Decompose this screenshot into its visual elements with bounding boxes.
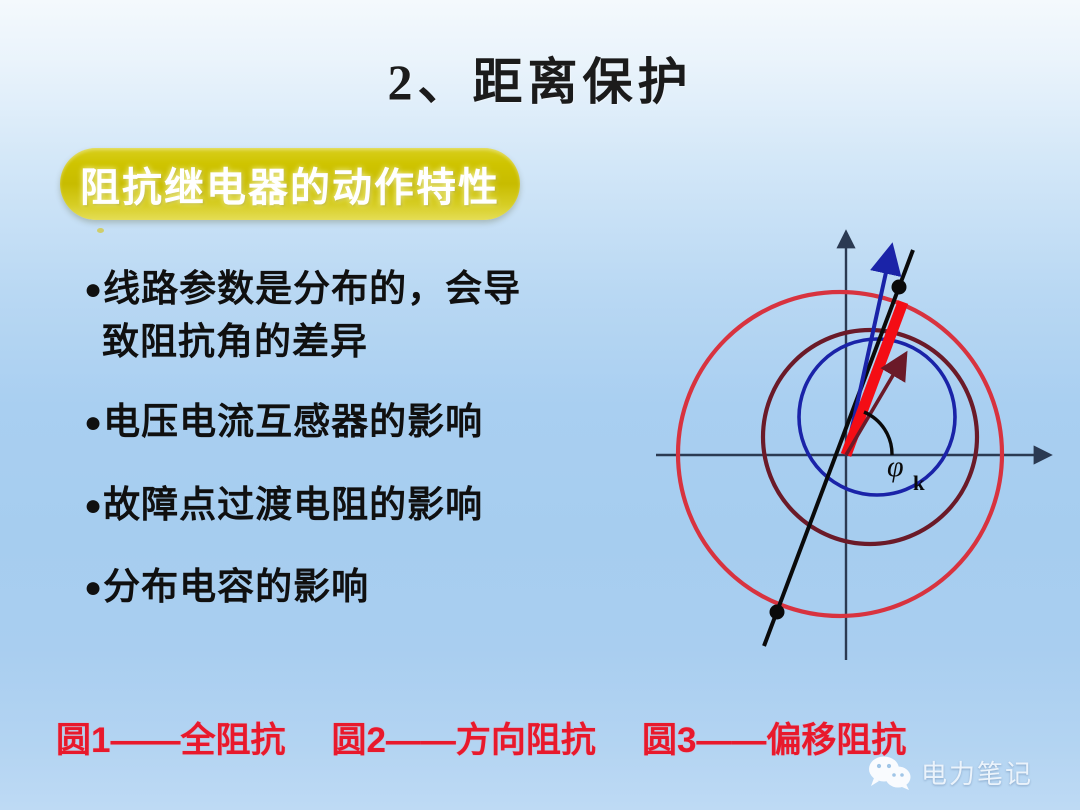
bullet-marker-icon: ● [84,489,103,522]
line-endpoint-dot-lower [770,605,785,620]
section-banner-label: 阻抗继电器的动作特性 [80,155,500,213]
bullet-list: ●线路参数是分布的，会导 致阻抗角的差异 ●电压电流互感器的影响 ●故障点过渡电… [84,264,684,635]
slide-canvas: 2、距离保护 阻抗继电器的动作特性 ●线路参数是分布的，会导 致阻抗角的差异 ●… [0,0,1080,810]
bullet-text-line1: 分布电容的影响 [103,567,369,608]
list-item: ●线路参数是分布的，会导 致阻抗角的差异 [84,264,684,369]
banner-accent-dot [97,228,104,233]
impedance-circles-diagram: φ k [640,222,1060,682]
legend-item-circle2: 圆2——方向阻抗 [331,712,595,763]
angle-subscript-label: k [913,471,925,495]
list-item: ●故障点过渡电阻的影响 [84,480,684,533]
angle-label: φ [887,450,904,483]
bullet-text-line1: 故障点过渡电阻的影响 [103,485,483,526]
bullet-marker-icon: ● [84,406,103,439]
section-banner: 阻抗继电器的动作特性 [60,148,520,220]
line-endpoint-dot-upper [892,280,907,295]
list-item: ●电压电流互感器的影响 [84,397,684,450]
list-item: ●分布电容的影响 [84,562,684,615]
bullet-text-line1: 电压电流互感器的影响 [103,402,483,443]
bullet-marker-icon: ● [84,273,103,306]
bullet-marker-icon: ● [84,571,103,604]
legend-item-circle1: 圆1——全阻抗 [56,712,285,763]
watermark-label: 电力笔记 [921,754,1033,791]
legend-item-circle3: 圆3——偏移阻抗 [642,712,906,763]
wechat-icon [868,756,912,790]
bullet-text-line1: 线路参数是分布的，会导 [103,269,521,310]
bullet-text-line2: 致阻抗角的差异 [84,317,684,370]
page-title: 2、距离保护 [0,42,1080,114]
watermark: 电力笔记 [868,754,1033,791]
